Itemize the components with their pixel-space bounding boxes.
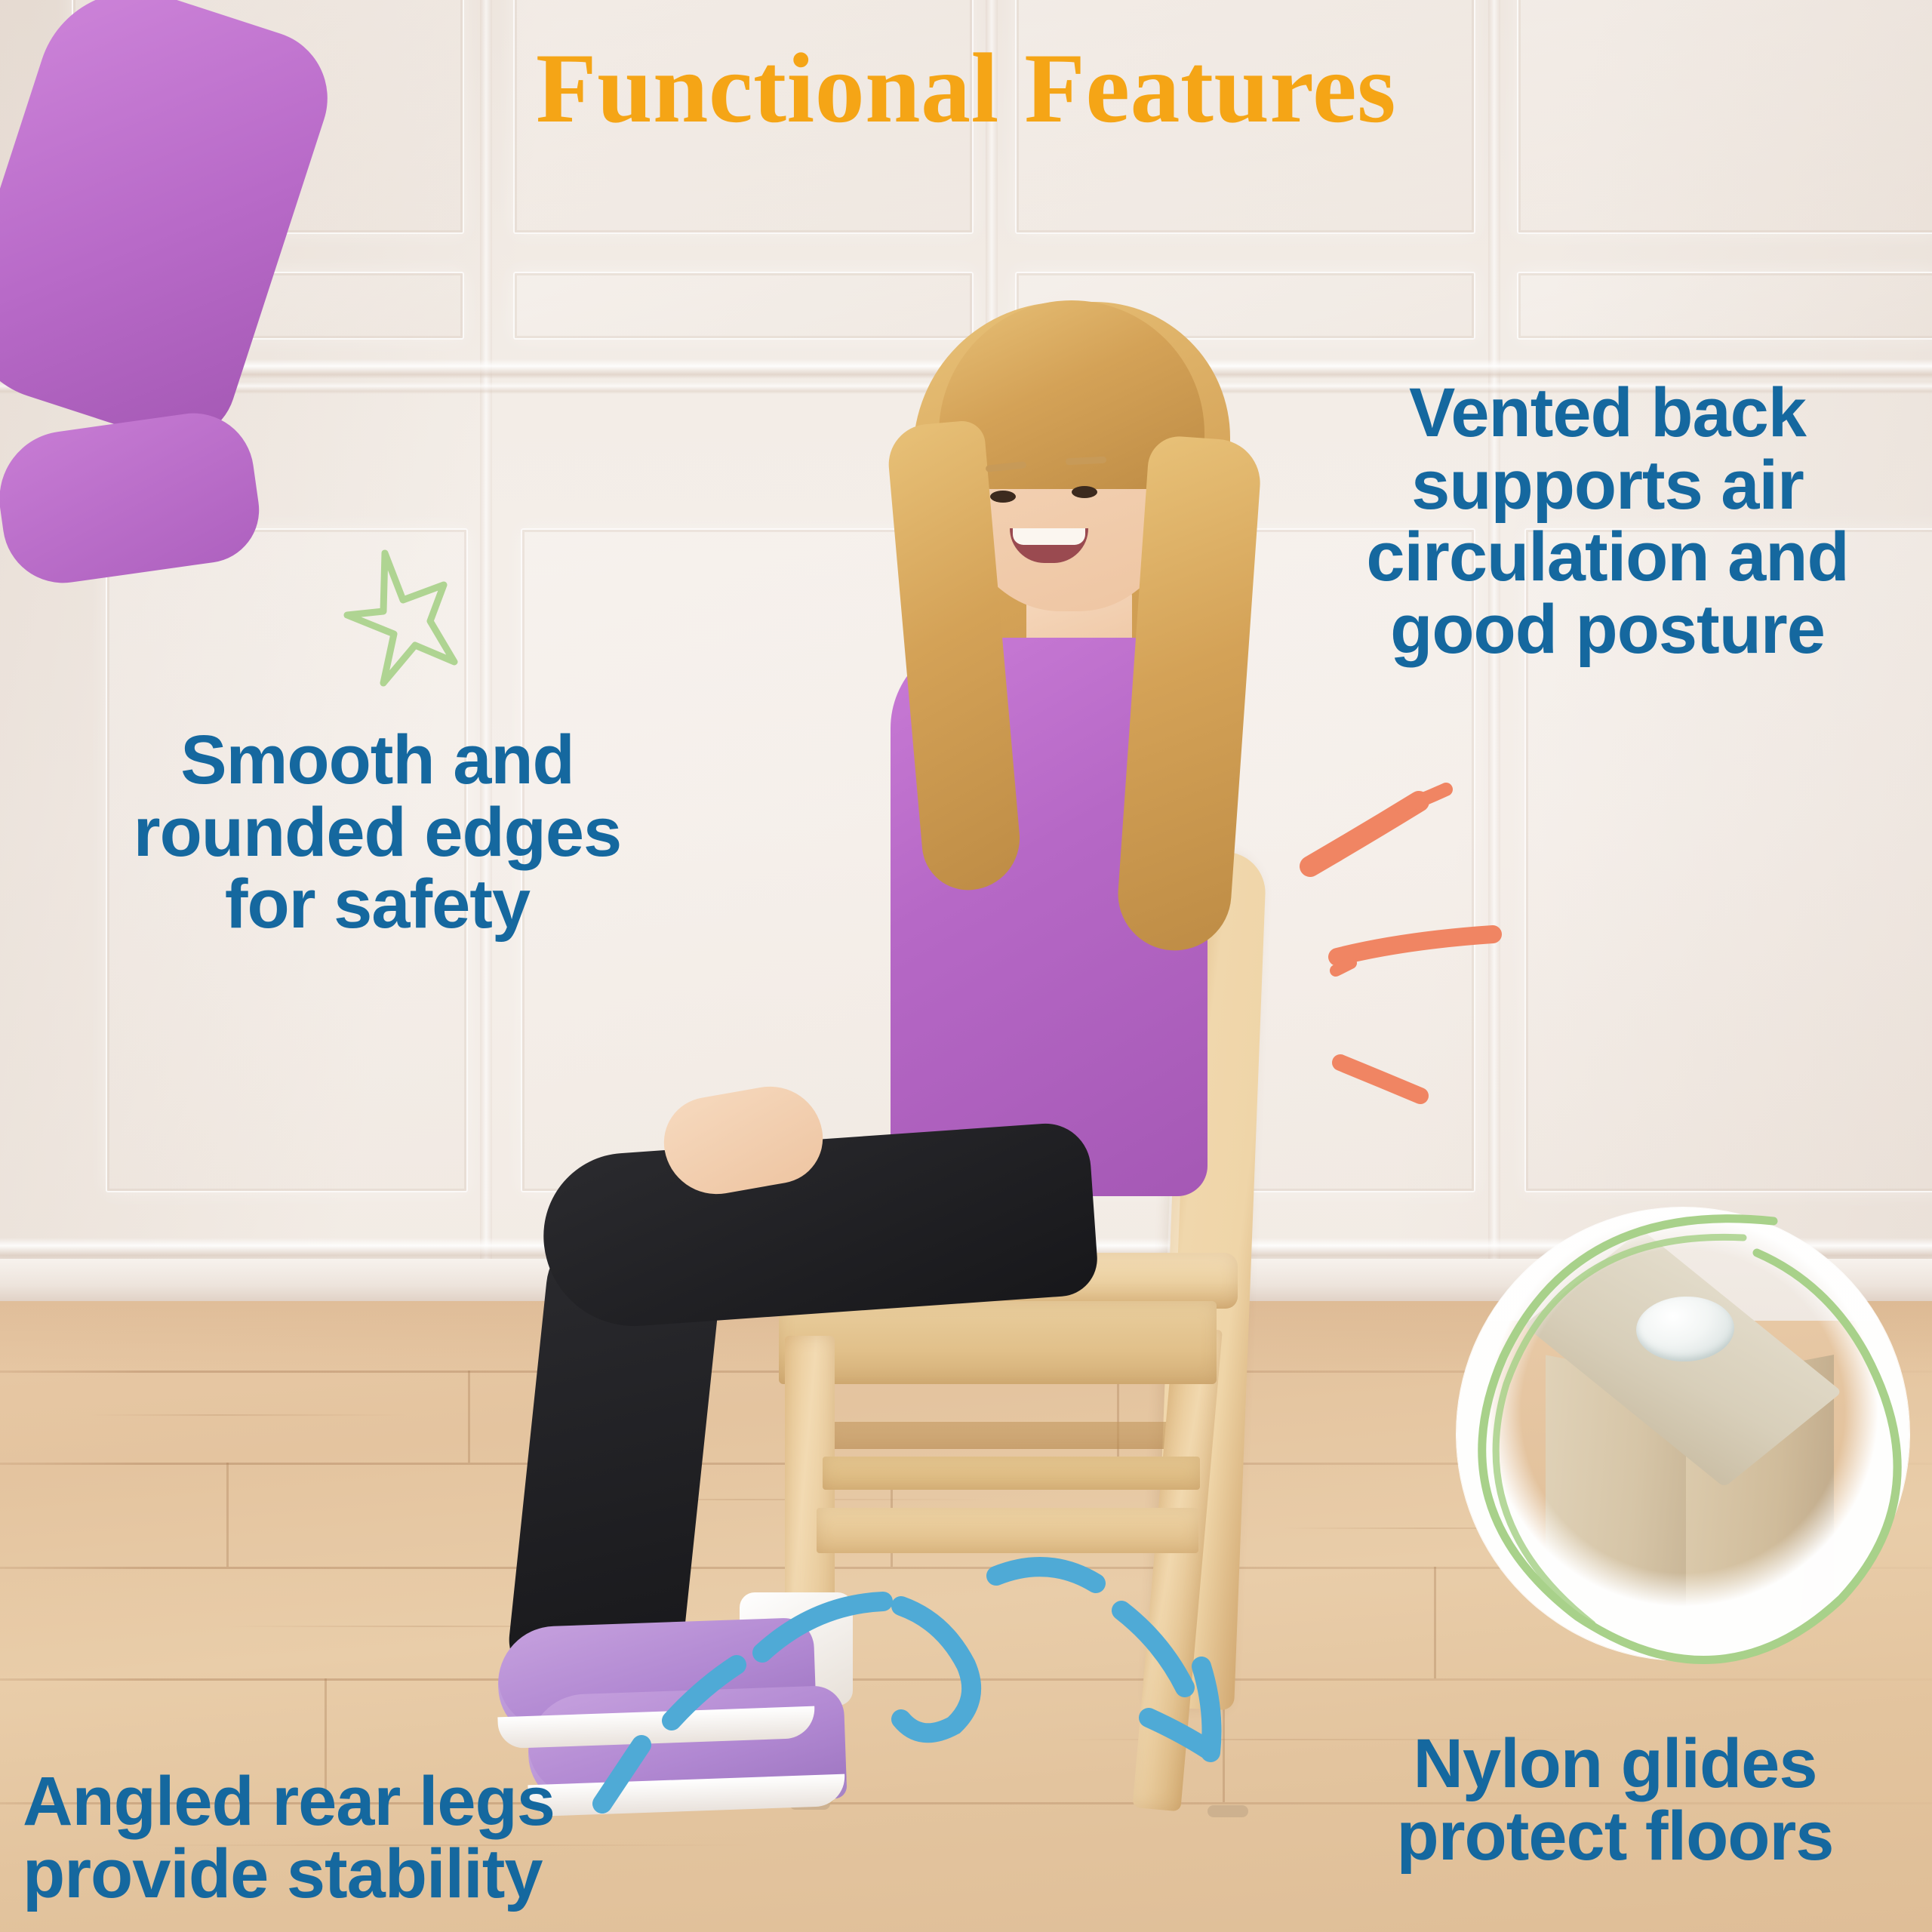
inset-vignette <box>1457 1207 1909 1660</box>
sweater-forearm <box>0 405 266 590</box>
callout-smooth-edges: Smooth and rounded edges for safety <box>98 724 657 941</box>
infographic-canvas: Functional Features Vented back supports… <box>0 0 1932 1932</box>
callout-vented-back: Vented back supports air circulation and… <box>1328 377 1887 666</box>
page-title: Functional Features <box>0 30 1932 146</box>
eye-left <box>990 491 1016 503</box>
eye-right <box>1072 486 1097 498</box>
nylon-glide-inset-photo <box>1457 1207 1909 1660</box>
callout-nylon-glides: Nylon glides protect floors <box>1313 1728 1917 1872</box>
callout-angled-rear-legs: Angled rear legs provide stability <box>23 1766 672 1910</box>
teeth <box>1013 528 1085 545</box>
